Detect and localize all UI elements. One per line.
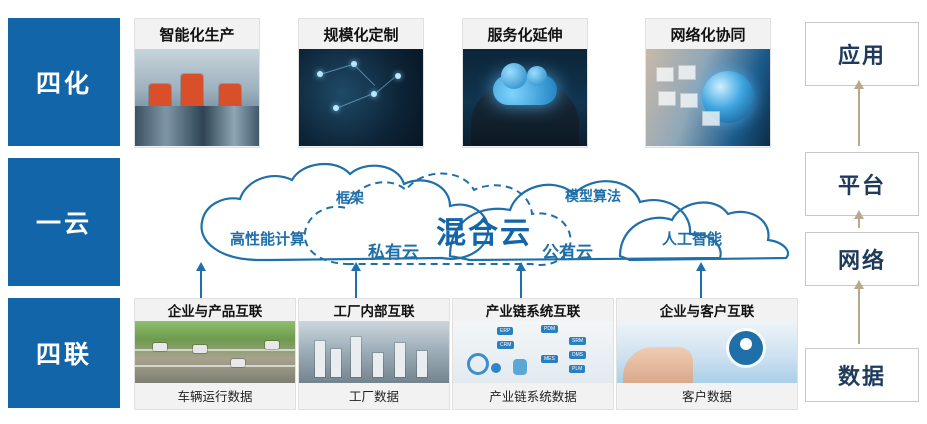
- system-tag-srm: SRM: [569, 337, 586, 345]
- cloud-framework-label: 框架: [336, 188, 364, 208]
- bottom-card-caption: 工厂内部互联: [299, 299, 449, 321]
- system-tag-erp: ERP: [497, 327, 513, 335]
- cloud-hpc-label: 高性能计算: [230, 228, 305, 249]
- bottom-card-footer: 产业链系统数据: [453, 383, 613, 407]
- cloud-ai-label: 人工智能: [662, 228, 722, 249]
- up-arrow-icon: [858, 288, 860, 344]
- hand-touching-user-icon-photo: [617, 321, 797, 383]
- bottom-card-enterprise-customer: 企业与客户互联 客户数据: [616, 298, 798, 410]
- diagram-canvas: 四化 一云 四联 应用 平台 网络 数据 智能化生产 规模化定制: [0, 0, 927, 424]
- connected-vehicles-road-photo: [135, 321, 295, 383]
- system-tag-mes: MES: [541, 355, 558, 363]
- up-arrow-icon: [858, 88, 860, 146]
- right-label-platform-text: 平台: [838, 168, 886, 200]
- system-tag-pdm: PDM: [541, 325, 558, 333]
- left-label-yiyun-text: 一云: [36, 204, 92, 240]
- database-icon: [513, 359, 527, 375]
- bottom-card-footer: 客户数据: [617, 383, 797, 407]
- top-card-caption: 网络化协同: [646, 19, 770, 49]
- cloud-model-algorithm-label: 模型算法: [565, 186, 621, 206]
- system-tag-crm: CRM: [497, 341, 514, 349]
- system-integration-diagram: ERP PDM SRM CRM DMS MES PLM: [453, 321, 613, 383]
- gear-icon: [467, 353, 489, 375]
- left-label-yiyun: 一云: [8, 158, 120, 286]
- left-label-silian: 四联: [8, 298, 120, 408]
- left-label-silian-text: 四联: [36, 335, 92, 371]
- cloud-center-label: 混合云: [436, 208, 532, 252]
- bottom-card-caption: 企业与客户互联: [617, 299, 797, 321]
- bottom-card-footer: 车辆运行数据: [135, 383, 295, 407]
- top-card-caption: 智能化生产: [135, 19, 259, 49]
- person-icon: [491, 363, 501, 373]
- right-label-application-text: 应用: [838, 38, 886, 70]
- top-card-scaled-customization: 规模化定制: [298, 18, 424, 148]
- smart-factory-robots-photo: [135, 49, 259, 146]
- top-card-caption: 规模化定制: [299, 19, 423, 49]
- user-icon: [729, 331, 763, 365]
- top-card-networked-collaboration: 网络化协同: [645, 18, 771, 148]
- right-label-network-text: 网络: [838, 243, 886, 275]
- up-arrow-icon: [858, 218, 860, 228]
- left-label-sihua: 四化: [8, 18, 120, 146]
- bottom-card-caption: 企业与产品互联: [135, 299, 295, 321]
- right-label-platform: 平台: [805, 152, 919, 216]
- bottom-card-enterprise-product: 企业与产品互联 车辆运行数据: [134, 298, 296, 410]
- factory-interior-photo: [299, 321, 449, 383]
- right-label-network: 网络: [805, 232, 919, 286]
- cloud-public-label: 公有云: [542, 238, 593, 263]
- right-label-application: 应用: [805, 22, 919, 86]
- left-label-sihua-text: 四化: [36, 64, 92, 100]
- bottom-card-factory-internal: 工厂内部互联 工厂数据: [298, 298, 450, 410]
- system-tag-plm: PLM: [569, 365, 585, 373]
- top-card-caption: 服务化延伸: [463, 19, 587, 49]
- network-nodes-tablet-photo: [299, 49, 423, 146]
- bottom-card-caption: 产业链系统互联: [453, 299, 613, 321]
- right-label-data: 数据: [805, 348, 919, 402]
- right-label-data-text: 数据: [838, 359, 886, 391]
- cloud-private-label: 私有云: [368, 238, 419, 263]
- bottom-card-industry-chain: 产业链系统互联 ERP PDM SRM CRM DMS MES PLM 产业链系…: [452, 298, 614, 410]
- businessman-holding-cloud-photo: [463, 49, 587, 146]
- bottom-card-footer: 工厂数据: [299, 383, 449, 407]
- top-card-smart-production: 智能化生产: [134, 18, 260, 148]
- hand-globe-collaboration-photo: [646, 49, 770, 146]
- top-card-service-extension: 服务化延伸: [462, 18, 588, 148]
- system-tag-dms: DMS: [569, 351, 586, 359]
